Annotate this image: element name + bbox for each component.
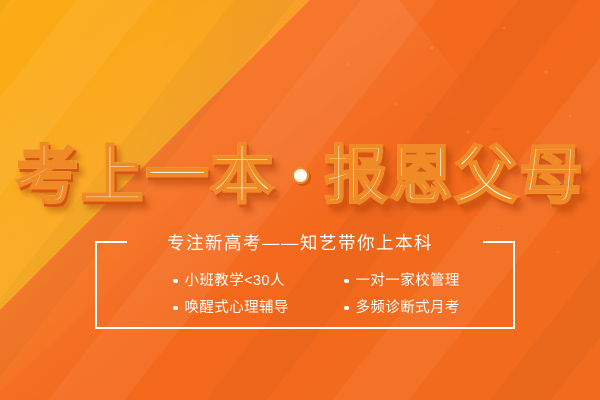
feature-item: 多频诊断式月考 bbox=[344, 297, 515, 319]
feature-item: 唤醒式心理辅导 bbox=[173, 297, 344, 319]
headline: 考上一本 报恩父母 bbox=[0, 134, 600, 216]
headline-left-text: 考上一本 bbox=[16, 144, 276, 207]
feature-label: 多频诊断式月考 bbox=[356, 297, 460, 319]
promo-banner: 考上一本 报恩父母 专注新高考——知艺带你上本科 小班教学<30人 一对一家校管… bbox=[0, 0, 600, 400]
banner-content: 考上一本 报恩父母 专注新高考——知艺带你上本科 小班教学<30人 一对一家校管… bbox=[0, 0, 600, 400]
bullet-icon bbox=[173, 306, 178, 311]
bullet-icon bbox=[173, 279, 178, 284]
feature-item: 一对一家校管理 bbox=[344, 270, 515, 292]
headline-right-text: 报恩父母 bbox=[325, 144, 585, 207]
subtitle: 专注新高考——知艺带你上本科 bbox=[0, 232, 600, 254]
feature-label: 唤醒式心理辅导 bbox=[185, 297, 289, 319]
bullet-icon bbox=[344, 279, 349, 284]
bullet-icon bbox=[344, 306, 349, 311]
feature-list: 小班教学<30人 一对一家校管理 唤醒式心理辅导 多频诊断式月考 bbox=[95, 270, 515, 319]
feature-label: 一对一家校管理 bbox=[356, 270, 460, 292]
feature-label: 小班教学<30人 bbox=[185, 270, 285, 292]
headline-separator-dot bbox=[292, 167, 309, 184]
feature-item: 小班教学<30人 bbox=[173, 270, 344, 292]
subtitle-text: 专注新高考——知艺带你上本科 bbox=[158, 232, 442, 254]
